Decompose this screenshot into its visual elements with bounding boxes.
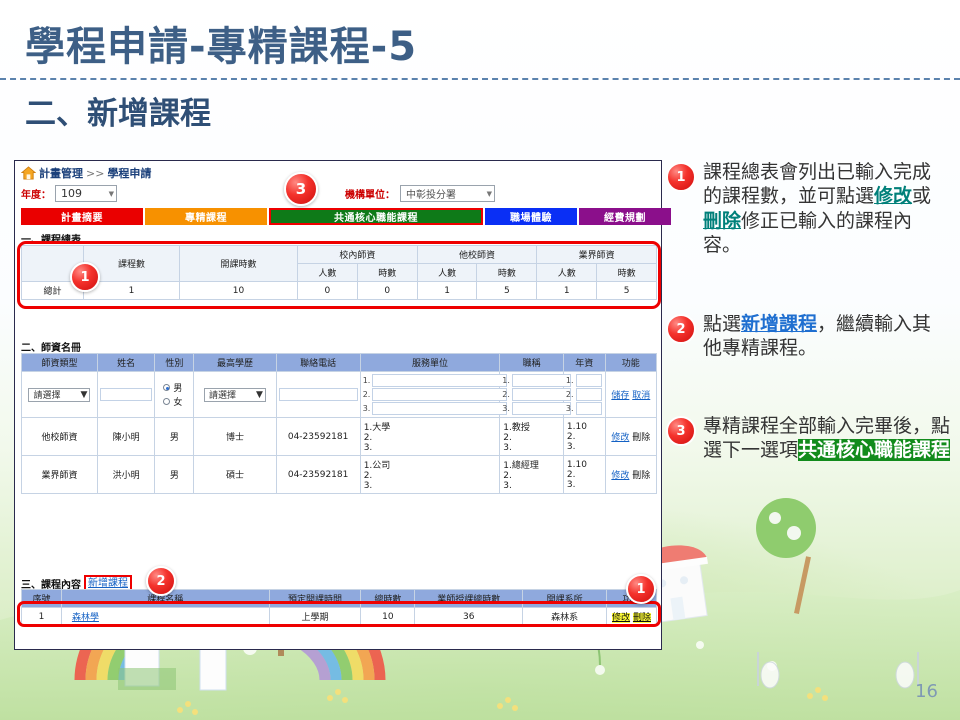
summary-industry-hours: 5 xyxy=(597,282,657,300)
teacher-gender-radio-group: 男 女 xyxy=(157,381,191,408)
note-1-keyword-edit: 修改 xyxy=(874,185,912,207)
note-1-part-7: 修 xyxy=(741,210,760,232)
years-value-3: 3. xyxy=(567,442,602,452)
title-value-2: 2. xyxy=(503,433,560,443)
teacher-header-org: 服務單位 xyxy=(360,354,500,372)
teacher-phone-input[interactable] xyxy=(279,388,358,401)
org-value-1: 1.公司 xyxy=(364,458,497,471)
chevron-down-icon: ▼ xyxy=(256,390,263,400)
org-value-3: 3. xyxy=(364,481,497,491)
note-3-part-1: 專精課程全部輸入完 xyxy=(703,415,874,437)
title-divider xyxy=(0,78,960,80)
course-total-hours: 10 xyxy=(361,608,415,626)
teacher-degree: 碩士 xyxy=(194,456,276,494)
year-select[interactable]: 109 ▼ xyxy=(55,185,117,202)
summary-course-hours: 10 xyxy=(180,282,298,300)
home-icon xyxy=(21,166,36,180)
teacher-header-degree: 最高學歷 xyxy=(194,354,276,372)
summary-header-external-people: 人數 xyxy=(417,264,477,282)
course-dept: 森林系 xyxy=(523,608,607,626)
teacher-org: 1.大學 2. 3. xyxy=(360,418,500,456)
years-value-2: 2. xyxy=(567,432,602,442)
teacher-degree-cell: 請選擇 ▼ xyxy=(194,372,276,418)
delete-link[interactable]: 刪除 xyxy=(632,433,650,443)
summary-total-row: 總計 1 10 0 0 1 5 1 5 xyxy=(22,282,657,300)
years-value-1: 1.10 xyxy=(567,422,602,432)
tab-bar: 計畫摘要 專精課程 共通核心職能課程 職場體驗 經費規劃 xyxy=(21,208,657,225)
course-name-cell: 森林學 xyxy=(61,608,269,626)
teacher-edit-actions: 儲存 取消 xyxy=(605,372,656,418)
note-1: 1 課程總表會列出已輸入完成的課程數，並可點選修改或刪除修正已輸入的課程內容。 xyxy=(666,160,950,257)
teacher-edit-row: 請選擇 ▼ 男 xyxy=(22,372,657,418)
org-line-2-index: 2. xyxy=(363,390,371,399)
delete-link[interactable]: 刪除 xyxy=(633,613,651,623)
chevron-down-icon: ▼ xyxy=(81,390,88,400)
teacher-org-cell: 1. 2. 3. xyxy=(360,372,500,418)
title-value-1: 1.總經理 xyxy=(503,458,560,471)
title-line-2: 2. xyxy=(502,388,561,401)
edit-link[interactable]: 修改 xyxy=(612,613,630,623)
year-filter: 年度： 109 ▼ xyxy=(21,185,117,202)
summary-header-internal-hours: 時數 xyxy=(357,264,417,282)
page-title: 學程申請-專精課程-5 xyxy=(25,14,417,72)
teacher-years: 1.10 2. 3. xyxy=(563,418,605,456)
summary-group-external: 他校師資 xyxy=(417,246,537,264)
callout-notes: 1 課程總表會列出已輸入完成的課程數，並可點選修改或刪除修正已輸入的課程內容。 … xyxy=(660,160,950,520)
years-line-2-index: 2. xyxy=(566,390,574,399)
teacher-org: 1.公司 2. 3. xyxy=(360,456,500,494)
teacher-name: 洪小明 xyxy=(97,456,154,494)
teacher-name-input[interactable] xyxy=(100,388,152,401)
note-2-badge: 2 xyxy=(666,314,696,344)
tab-core-competency-course[interactable]: 共通核心職能課程 xyxy=(269,208,483,225)
years-line-3: 3. xyxy=(566,402,603,415)
teacher-header-phone: 聯絡電話 xyxy=(276,354,360,372)
teacher-years-cell: 1. 2. 3. xyxy=(563,372,605,418)
course-name-link[interactable]: 森林學 xyxy=(72,613,99,623)
section-1-title: 一、課程總表 xyxy=(21,231,81,246)
breadcrumb-level1[interactable]: 計畫管理 xyxy=(39,165,83,181)
teacher-header-years: 年資 xyxy=(563,354,605,372)
course-header-term: 預定開課時間 xyxy=(269,590,361,608)
teacher-header-name: 姓名 xyxy=(97,354,154,372)
course-term: 上學期 xyxy=(269,608,361,626)
title-value-3: 3. xyxy=(503,443,560,453)
years-line-1: 1. xyxy=(566,374,603,387)
teacher-type: 業界師資 xyxy=(22,456,98,494)
radio-female[interactable]: 女 xyxy=(163,395,182,408)
org-value-2: 2. xyxy=(364,471,497,481)
note-1-part-1: 課程總表會列出已輸 xyxy=(703,161,874,183)
teacher-row: 他校師資 陳小明 男 博士 04-23592181 1.大學 2. 3. 1.教… xyxy=(22,418,657,456)
course-header-no: 序號 xyxy=(22,590,62,608)
tab-plan-summary[interactable]: 計畫摘要 xyxy=(21,208,143,225)
summary-group-industry: 業界師資 xyxy=(537,246,657,264)
radio-male-label: 男 xyxy=(173,381,182,394)
org-line-1-input[interactable] xyxy=(372,374,507,387)
note-1-text: 課程總表會列出已輸入完成的課程數，並可點選修改或刪除修正已輸入的課程內容。 xyxy=(703,160,950,257)
teacher-years: 1.10 2. 3. xyxy=(563,456,605,494)
edit-link[interactable]: 修改 xyxy=(611,433,629,443)
callout-badge-2-add: 2 xyxy=(146,566,176,596)
teacher-header-gender: 性別 xyxy=(155,354,194,372)
breadcrumb-level2[interactable]: 學程申請 xyxy=(107,165,151,181)
breadcrumb-separator: >> xyxy=(86,167,104,180)
radio-female-label: 女 xyxy=(173,395,182,408)
unit-label: 機構單位： xyxy=(345,186,395,201)
course-header-industry-hours: 業師授課總時數 xyxy=(415,590,523,608)
note-1-keyword-delete: 刪除 xyxy=(703,210,741,232)
teacher-type-cell: 請選擇 ▼ xyxy=(22,372,98,418)
summary-internal-hours: 0 xyxy=(357,282,417,300)
years-line-3-index: 3. xyxy=(566,404,574,413)
teacher-roster-table: 師資類型 姓名 性別 最高學歷 聯絡電話 服務單位 職稱 年資 功能 請選擇 ▼ xyxy=(21,353,657,494)
application-window: 計畫管理 >> 學程申請 年度： 109 ▼ 機構單位： 中彰投分署 ▼ 計畫摘… xyxy=(14,160,662,650)
callout-badge-1-summary: 1 xyxy=(70,262,100,292)
org-line-3-input[interactable] xyxy=(372,402,507,415)
years-line-1-index: 1. xyxy=(566,376,574,385)
summary-external-people: 1 xyxy=(417,282,477,300)
years-line-1-input[interactable] xyxy=(576,374,602,387)
org-line-3-index: 3. xyxy=(363,404,371,413)
teacher-degree-select-value: 請選擇 xyxy=(209,388,236,401)
summary-header-course-hours: 開課時數 xyxy=(180,246,298,282)
teacher-name: 陳小明 xyxy=(97,418,154,456)
years-value-2: 2. xyxy=(567,470,602,480)
teacher-title: 1.教授 2. 3. xyxy=(500,418,564,456)
org-line-3: 3. xyxy=(363,402,498,415)
unit-select-value: 中彰投分署 xyxy=(406,186,456,201)
teacher-type: 他校師資 xyxy=(22,418,98,456)
summary-header-external-hours: 時數 xyxy=(477,264,537,282)
note-2-text: 點選新增課程，繼續輸入其他專精課程。 xyxy=(703,312,950,361)
teacher-header-actions: 功能 xyxy=(605,354,656,372)
years-value-1: 1.10 xyxy=(567,460,602,470)
org-line-1: 1. xyxy=(363,374,498,387)
org-value-1: 1.大學 xyxy=(364,420,497,433)
note-2: 2 點選新增課程，繼續輸入其他專精課程。 xyxy=(666,312,950,361)
teacher-header-type: 師資類型 xyxy=(22,354,98,372)
teacher-row-actions: 修改 刪除 xyxy=(605,418,656,456)
summary-external-hours: 5 xyxy=(477,282,537,300)
summary-group-internal: 校內師資 xyxy=(298,246,418,264)
title-value-1: 1.教授 xyxy=(503,420,560,433)
year-label: 年度： xyxy=(21,186,51,201)
note-3-badge: 3 xyxy=(666,416,696,446)
course-header-dept: 開課系所 xyxy=(523,590,607,608)
org-line-2-input[interactable] xyxy=(372,388,507,401)
title-line-2-input[interactable] xyxy=(512,388,571,401)
title-line-3-input[interactable] xyxy=(512,402,571,415)
page-subtitle: 二、新增課程 xyxy=(25,88,211,133)
note-1-badge: 1 xyxy=(666,162,696,192)
note-2-part-3: ，繼續 xyxy=(817,313,874,335)
title-value-2: 2. xyxy=(503,471,560,481)
unit-select[interactable]: 中彰投分署 ▼ xyxy=(400,185,495,202)
teacher-type-select-value: 請選擇 xyxy=(33,388,60,401)
teacher-phone: 04-23592181 xyxy=(276,456,360,494)
teacher-gender: 男 xyxy=(155,418,194,456)
note-2-keyword-add-course: 新增課程 xyxy=(741,313,817,335)
chevron-down-icon: ▼ xyxy=(109,190,114,198)
title-line-1: 1. xyxy=(502,374,561,387)
title-line-3-index: 3. xyxy=(502,404,510,413)
course-industry-hours: 36 xyxy=(415,608,523,626)
teacher-header-title: 職稱 xyxy=(500,354,564,372)
delete-link[interactable]: 刪除 xyxy=(632,471,650,481)
save-link[interactable]: 儲存 xyxy=(611,391,629,401)
callout-badge-1-course: 1 xyxy=(626,574,656,604)
teacher-gender: 男 xyxy=(155,456,194,494)
course-content-table: 序號 課程名稱 預定開課時間 總時數 業師授課總時數 開課系所 功能 1 森林學… xyxy=(21,589,657,626)
teacher-type-select[interactable]: 請選擇 ▼ xyxy=(28,388,90,402)
section-2-title: 二、師資名冊 xyxy=(21,339,81,354)
summary-header-internal-people: 人數 xyxy=(298,264,358,282)
slide-canvas: 學程申請-專精課程-5 二、新增課程 計畫管理 >> 學程申請 年度： 109 … xyxy=(0,0,960,720)
chevron-down-icon: ▼ xyxy=(487,190,492,198)
title-line-1-input[interactable] xyxy=(512,374,571,387)
tab-workplace-experience[interactable]: 職場體驗 xyxy=(485,208,577,225)
title-line-2-index: 2. xyxy=(502,390,510,399)
summary-internal-people: 0 xyxy=(298,282,358,300)
breadcrumb: 計畫管理 >> 學程申請 xyxy=(21,165,151,181)
note-1-part-3: 可點選 xyxy=(817,185,874,207)
summary-header-industry-people: 人數 xyxy=(537,264,597,282)
course-summary-table: 課程數 開課時數 校內師資 他校師資 業界師資 人數 時數 人數 時數 人數 時… xyxy=(21,245,657,300)
edit-link[interactable]: 修改 xyxy=(611,471,629,481)
summary-header-industry-hours: 時數 xyxy=(597,264,657,282)
course-row-actions: 修改 刪除 xyxy=(607,608,657,626)
teacher-name-cell xyxy=(97,372,154,418)
course-no: 1 xyxy=(22,608,62,626)
teacher-degree: 博士 xyxy=(194,418,276,456)
years-line-2-input[interactable] xyxy=(576,388,602,401)
year-select-value: 109 xyxy=(61,187,82,200)
radio-male[interactable]: 男 xyxy=(163,381,182,394)
summary-industry-people: 1 xyxy=(537,282,597,300)
note-2-part-1: 點選 xyxy=(703,313,741,335)
note-3-keyword-core-course: 共通核心職能課程 xyxy=(798,439,950,461)
teacher-title: 1.總經理 2. 3. xyxy=(500,456,564,494)
teacher-gender-cell: 男 女 xyxy=(155,372,194,418)
note-3-text: 專精課程全部輸入完畢後，點選下一選項共通核心職能課程 xyxy=(703,414,956,463)
teacher-phone: 04-23592181 xyxy=(276,418,360,456)
years-value-3: 3. xyxy=(567,480,602,490)
course-row: 1 森林學 上學期 10 36 森林系 修改 刪除 xyxy=(22,608,657,626)
teacher-phone-cell xyxy=(276,372,360,418)
unit-filter: 機構單位： 中彰投分署 ▼ xyxy=(345,185,495,202)
org-line-1-index: 1. xyxy=(363,376,371,385)
cancel-link[interactable]: 取消 xyxy=(632,391,650,401)
teacher-title-cell: 1. 2. 3. xyxy=(500,372,564,418)
callout-badge-3: 3 xyxy=(284,172,318,206)
teacher-row-actions: 修改 刪除 xyxy=(605,456,656,494)
radio-female-icon xyxy=(163,398,170,405)
years-line-3-input[interactable] xyxy=(576,402,602,415)
page-number: 16 xyxy=(915,681,938,702)
note-1-part-5: 或 xyxy=(912,185,931,207)
org-value-3: 3. xyxy=(364,443,497,453)
teacher-row: 業界師資 洪小明 男 碩士 04-23592181 1.公司 2. 3. 1.總… xyxy=(22,456,657,494)
radio-male-icon xyxy=(163,384,170,391)
org-line-2: 2. xyxy=(363,388,498,401)
note-3: 3 專精課程全部輸入完畢後，點選下一選項共通核心職能課程 xyxy=(666,414,956,463)
title-line-3: 3. xyxy=(502,402,561,415)
teacher-degree-select[interactable]: 請選擇 ▼ xyxy=(204,388,266,402)
course-header-total-hours: 總時數 xyxy=(361,590,415,608)
years-line-2: 2. xyxy=(566,388,603,401)
tab-specialized-course[interactable]: 專精課程 xyxy=(145,208,267,225)
title-value-3: 3. xyxy=(503,481,560,491)
org-value-2: 2. xyxy=(364,433,497,443)
tab-budget-plan[interactable]: 經費規劃 xyxy=(579,208,671,225)
title-line-1-index: 1. xyxy=(502,376,510,385)
